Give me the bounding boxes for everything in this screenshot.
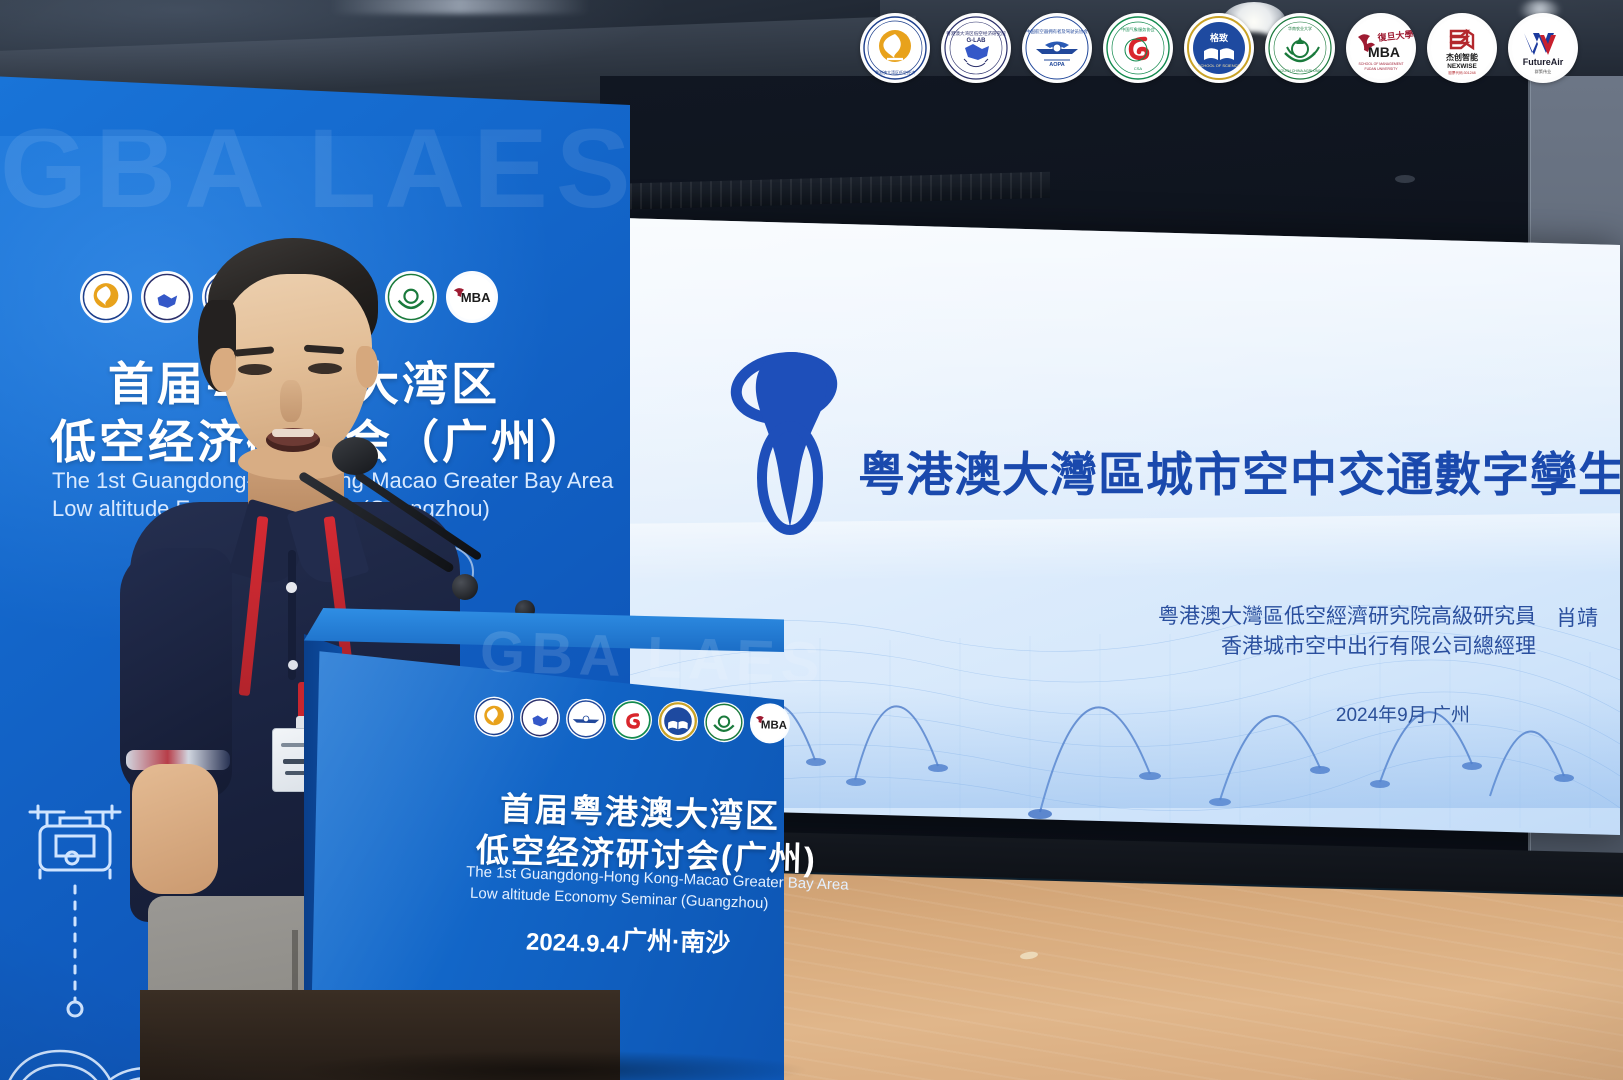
slide-title: 粤港澳大灣區城市空中交通數字孿生: [858, 436, 1620, 505]
slide-speaker-name: 肖靖: [1556, 602, 1598, 632]
logo-geheng-wuzhi: 格致 SCHOOL OF SCIENCE: [1184, 13, 1254, 83]
svg-text:CSA: CSA: [1134, 66, 1143, 71]
slide-subtitle-1: 粤港澳大灣區低空經濟研究院高級研究員: [1158, 600, 1536, 630]
svg-text:粤港澳大湾区低空经济研究院: 粤港澳大湾区低空经济研究院: [946, 30, 1006, 37]
sponsor-logo-strip: 粤港澳大湾区低空经济 粤港澳大湾区低空经济研究院 G-LAB 中国航空器拥有者及…: [860, 8, 1610, 88]
slide-subtitle-2: 香港城市空中出行有限公司總經理: [1221, 630, 1536, 660]
lectern-floor-shadow: [290, 1050, 810, 1080]
lectern-logo-csa: [612, 700, 653, 741]
lectern-logo-row: MBA: [474, 696, 791, 744]
presenter-eye-right: [308, 363, 342, 374]
svg-text:SCHOOL OF MANAGEMENT: SCHOOL OF MANAGEMENT: [1358, 62, 1403, 66]
svg-text:中国气象服务协会: 中国气象服务协会: [1121, 26, 1155, 33]
microphone-base-knob-1: [452, 574, 478, 600]
lectern-logo-fudan-emba: MBA: [749, 703, 790, 744]
logo-fudan-emba: 復旦大學 MBA SCHOOL OF MANAGEMENT FUDAN UNIV…: [1346, 13, 1416, 83]
svg-text:粤港澳大湾区低空经济: 粤港澳大湾区低空经济: [875, 69, 915, 75]
svg-text:SOUTH CHINA AGRI UNIV: SOUTH CHINA AGRI UNIV: [1278, 69, 1322, 73]
logo-phoenix-gold: 粤港澳大湾区低空经济: [860, 13, 930, 83]
svg-text:SCHOOL OF SCIENCE: SCHOOL OF SCIENCE: [1198, 63, 1241, 68]
svg-text:中国航空器拥有者及驾驶员协会: 中国航空器拥有者及驾驶员协会: [1026, 28, 1088, 35]
svg-text:AOPA: AOPA: [1049, 62, 1065, 68]
svg-text:MBA: MBA: [1368, 44, 1400, 60]
logo-nexwise: 杰创智能 NEXWISE 股票代码:301248: [1427, 13, 1497, 83]
logo-csa: 中国气象服务协会 CSA: [1103, 13, 1173, 83]
backdrop-watermark: GBA LAES: [0, 104, 630, 233]
svg-text:杰创智能: 杰创智能: [1446, 52, 1478, 62]
presenter-ear-left: [210, 348, 236, 392]
svg-text:G-LAB: G-LAB: [967, 38, 987, 44]
svg-text:MBA: MBA: [761, 719, 787, 732]
presenter-forearm: [132, 764, 218, 894]
lectern-watermark: GBA LAES: [479, 618, 827, 697]
lectern-logo-geheng-wuzhi: [658, 701, 699, 742]
lectern-date: 2024.9.4: [526, 929, 620, 960]
slide-date-location: 2024年9月 广州: [1336, 700, 1470, 727]
ceiling-light-strip: [330, 0, 590, 14]
logo-scau: 华南农业大学 SOUTH CHINA AGRI UNIV: [1265, 13, 1335, 83]
presenter-teeth: [272, 429, 314, 437]
svg-text:格致: 格致: [1210, 32, 1229, 43]
svg-text:股票代码:301248: 股票代码:301248: [1448, 70, 1475, 75]
presenter-eye-left: [238, 364, 272, 375]
lectern-logo-phoenix-gold: [474, 696, 515, 737]
screenshot-root: 粤港澳大湾区低空经济 粤港澳大湾区低空经济研究院 G-LAB 中国航空器拥有者及…: [0, 0, 1623, 1080]
drone-icon: [30, 806, 120, 878]
smoke-detector-icon: [1395, 175, 1415, 183]
presenter-shirt-button-2: [288, 660, 298, 670]
logo-aopa: 中国航空器拥有者及驾驶员协会 AOPA: [1022, 13, 1092, 83]
svg-text:群策伟业: 群策伟业: [1535, 68, 1552, 75]
presenter-shirt-button: [286, 582, 297, 593]
microphone-icon: [332, 437, 378, 475]
logo-g-lab: 粤港澳大湾区低空经济研究院 G-LAB: [941, 13, 1011, 83]
lectern-logo-g-lab: [520, 697, 561, 738]
lectern-logo-scau: [703, 702, 744, 743]
svg-text:FutureAir: FutureAir: [1523, 57, 1564, 67]
svg-text:FUDAN UNIVERSITY: FUDAN UNIVERSITY: [1365, 67, 1399, 71]
uam-orbit-logo-icon: [726, 338, 858, 543]
presenter-ear-right: [356, 346, 378, 388]
presenter-nose: [280, 380, 302, 422]
lectern-city: 广州·南沙: [621, 920, 730, 959]
lectern-logo-aopa: [566, 698, 607, 739]
svg-text:NEXWISE: NEXWISE: [1447, 63, 1477, 70]
logo-futureair: FutureAir 群策伟业: [1508, 13, 1578, 83]
svg-text:华南农业大学: 华南农业大学: [1288, 25, 1312, 31]
